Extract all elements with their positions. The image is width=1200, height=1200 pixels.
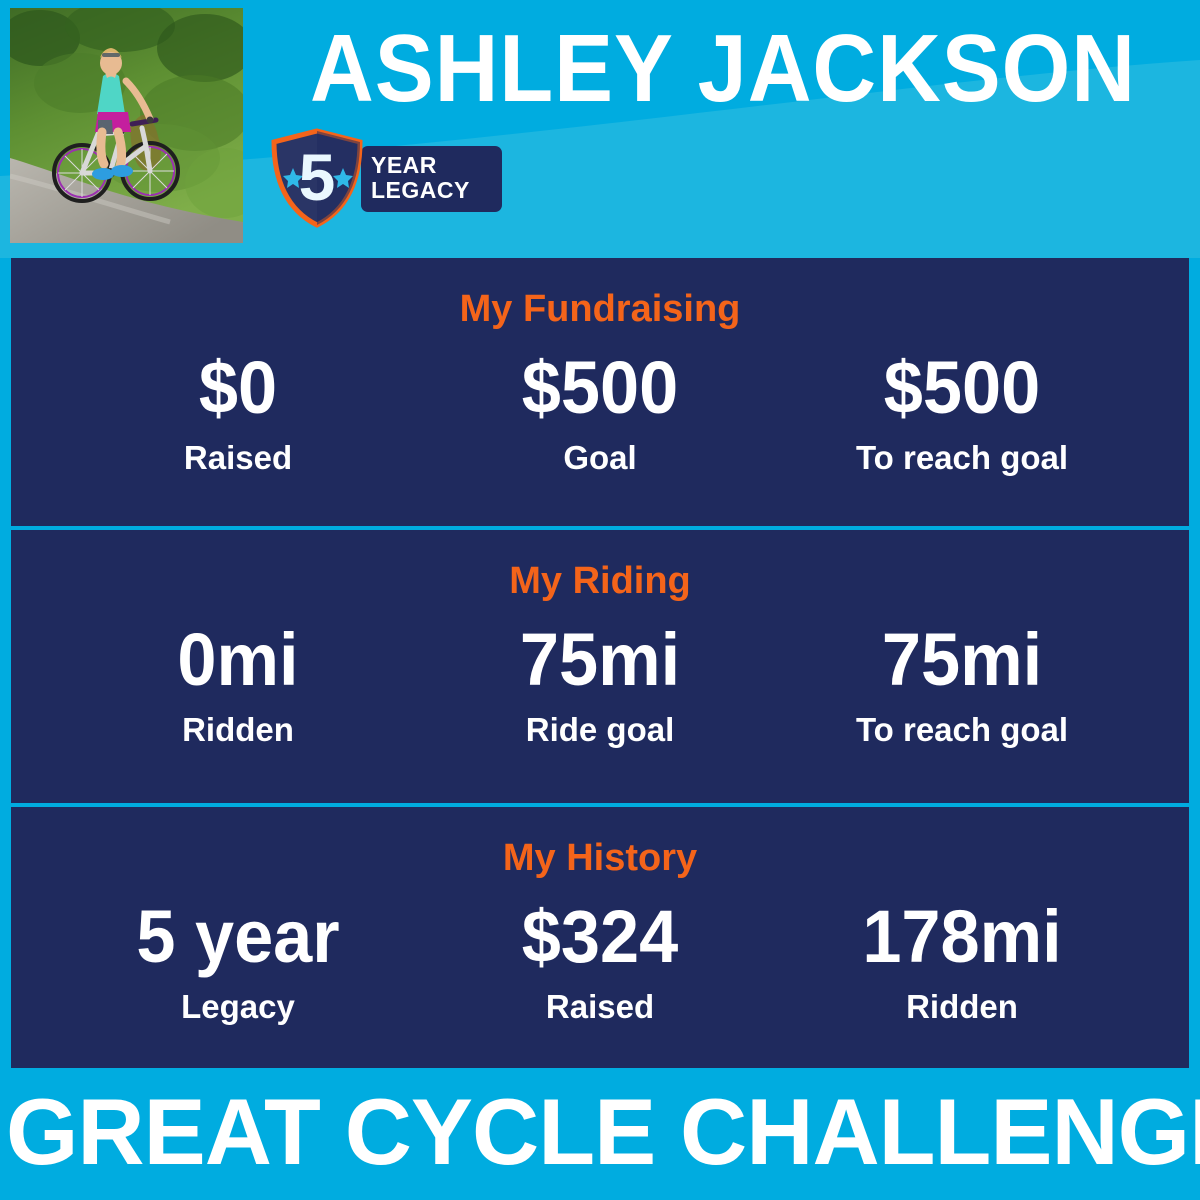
rider-photo-image (10, 8, 243, 243)
stat-value: 178mi (790, 894, 1134, 980)
stat-value: 75mi (428, 617, 772, 703)
stat-label: Ride goal (419, 710, 781, 750)
stat-value: 75mi (790, 617, 1134, 703)
section-title-fundraising: My Fundraising (11, 258, 1189, 331)
stats-row-riding: 0mi Ridden 75mi Ride goal 75mi To reach … (11, 603, 1189, 750)
section-title-riding: My Riding (11, 530, 1189, 603)
legacy-plate: YEAR LEGACY (361, 146, 502, 212)
legacy-badge: YEAR LEGACY 5 (265, 128, 505, 228)
stats-row-history: 5 year Legacy $324 Raised 178mi Ridden (11, 880, 1189, 1027)
footer: GREAT CYCLE CHALLENGE (0, 1068, 1200, 1200)
stat-value: $500 (428, 345, 772, 431)
stat-history-raised: $324 Raised (419, 894, 781, 1027)
stat-value: $500 (790, 345, 1134, 431)
section-title-history: My History (11, 807, 1189, 880)
brand-wordmark: GREAT CYCLE CHALLENGE (6, 1080, 1194, 1184)
stat-raised: $0 Raised (57, 345, 419, 478)
stat-to-reach-ride-goal: 75mi To reach goal (781, 617, 1143, 750)
stats-row-fundraising: $0 Raised $500 Goal $500 To reach goal (11, 331, 1189, 478)
stat-label: Raised (57, 438, 419, 478)
stat-label: To reach goal (781, 438, 1143, 478)
legacy-number: 5 (299, 140, 336, 214)
section-my-history: My History 5 year Legacy $324 Raised 178… (11, 807, 1189, 1076)
stat-history-ridden: 178mi Ridden (781, 894, 1143, 1027)
legacy-plate-line1: YEAR (371, 153, 470, 178)
stat-label: Ridden (57, 710, 419, 750)
stat-label: To reach goal (781, 710, 1143, 750)
stats-panel: My Fundraising $0 Raised $500 Goal $500 … (11, 258, 1189, 1068)
stat-ride-goal: 75mi Ride goal (419, 617, 781, 750)
stat-value: $0 (66, 345, 410, 431)
section-my-riding: My Riding 0mi Ridden 75mi Ride goal 75mi… (11, 530, 1189, 803)
stat-to-reach-goal: $500 To reach goal (781, 345, 1143, 478)
stat-ridden: 0mi Ridden (57, 617, 419, 750)
legacy-plate-text: YEAR LEGACY (371, 153, 470, 203)
rider-photo (10, 8, 243, 243)
stat-label: Goal (419, 438, 781, 478)
legacy-plate-line2: LEGACY (371, 178, 470, 203)
stat-value: 0mi (66, 617, 410, 703)
section-my-fundraising: My Fundraising $0 Raised $500 Goal $500 … (11, 258, 1189, 526)
stat-label: Ridden (781, 987, 1143, 1027)
stat-value: 5 year (66, 894, 410, 980)
stat-legacy: 5 year Legacy (57, 894, 419, 1027)
fundraiser-card: ASHLEY JACKSON YEAR LEGACY 5 M (0, 0, 1200, 1200)
page-title: ASHLEY JACKSON (295, 14, 1151, 124)
stat-label: Legacy (57, 987, 419, 1027)
shield-icon: 5 (265, 128, 369, 228)
header: ASHLEY JACKSON YEAR LEGACY 5 (0, 0, 1200, 258)
stat-label: Raised (419, 987, 781, 1027)
stat-value: $324 (428, 894, 772, 980)
stat-goal: $500 Goal (419, 345, 781, 478)
